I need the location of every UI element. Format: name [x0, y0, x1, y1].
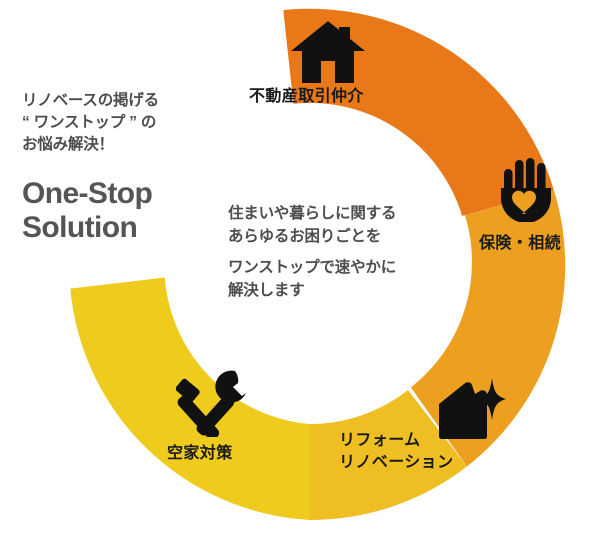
segment-label-reform-renovation: リフォーム リノベーション: [339, 430, 453, 473]
center-line-3: ワンストップで速やかに: [228, 257, 458, 280]
hand-heart-icon: [498, 158, 554, 222]
segment-label-vacant-house: 空家対策: [167, 443, 233, 465]
center-text-block: 住まいや暮らしに関する あらゆるお困りごとを ワンストップで速やかに 解決します: [228, 203, 458, 303]
segment-label-insurance-inheritance: 保険・相続: [479, 233, 561, 255]
one-stop-solution-infographic: 不動産取引仲介 保険・相続 リフォーム リノベーション 空家対策 リノベースの掲…: [0, 0, 600, 533]
lead-line-3: お悩み解決！: [22, 134, 217, 156]
hammer-wrench-icon: [176, 369, 254, 437]
house-icon: [291, 21, 365, 83]
headline-line-2: Solution: [22, 211, 217, 245]
center-line-1: 住まいや暮らしに関する: [228, 203, 458, 226]
headline-line-1: One-Stop: [22, 177, 217, 211]
lead-line-2: “ ワンストップ ” の: [22, 112, 217, 134]
segment-label-reform-line-1: リフォーム: [339, 430, 453, 452]
lead-line-1: リノベースの掲げる: [22, 90, 217, 112]
center-line-4: 解決します: [228, 280, 458, 303]
left-text-block: リノベースの掲げる “ ワンストップ ” の お悩み解決！ One-Stop S…: [22, 90, 217, 245]
headline: One-Stop Solution: [22, 177, 217, 245]
center-line-2: あらゆるお困りごとを: [228, 226, 458, 249]
segment-label-reform-line-2: リノベーション: [339, 452, 453, 474]
segment-label-real-estate: 不動産取引仲介: [249, 86, 364, 108]
center-text-gap: [228, 248, 458, 257]
